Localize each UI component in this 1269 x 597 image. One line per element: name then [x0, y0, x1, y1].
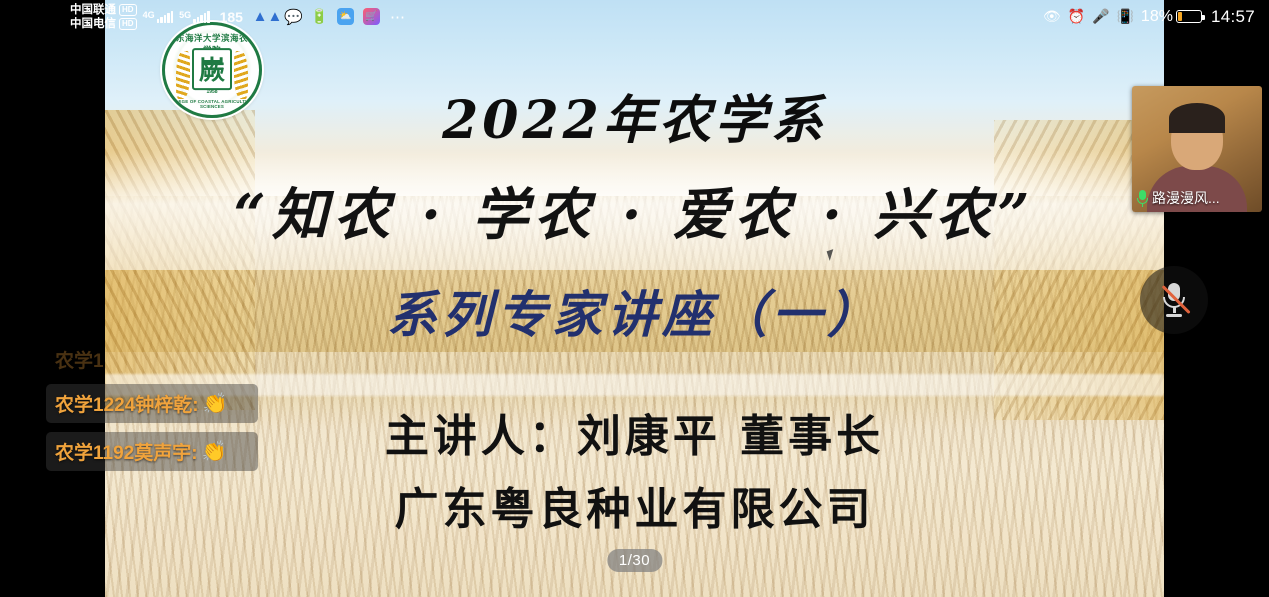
- chat-message-name-1: 农学1224钟梓乾:: [55, 390, 199, 417]
- chat-message-name-2: 农学1192莫声宇:: [55, 438, 198, 465]
- slide-company: 广东粤良种业有限公司: [105, 473, 1164, 537]
- battery-icon: [1176, 10, 1202, 23]
- microphone-on-icon: [1136, 190, 1149, 207]
- chat-message-1: 农学1224钟梓乾: 👏: [46, 384, 258, 423]
- participant-hair: [1169, 103, 1225, 133]
- presentation-slide[interactable]: 广东海洋大学滨海农业学院 嶡 1958 COLLEGE OF COASTAL A…: [105, 0, 1164, 597]
- participant-name-row: 路漫漫风...: [1136, 188, 1220, 208]
- slide-speaker: 主讲人：刘康平 董事长: [105, 400, 1164, 464]
- participant-name-label: 路漫漫风...: [1152, 188, 1220, 208]
- chat-message-2: 农学1192莫声宇: 👏: [46, 432, 258, 471]
- page-indicator: 1/30: [607, 549, 662, 572]
- chat-message-emoji-2: 👏: [202, 439, 227, 464]
- participant-video-tile[interactable]: 路漫漫风...: [1132, 86, 1262, 212]
- clock-label: 14:57: [1211, 7, 1255, 27]
- slide-motto: “知农 · 学农 · 爱农 · 兴农”: [105, 170, 1164, 251]
- slide-series-subtitle: 系列专家讲座（一）: [105, 275, 1164, 347]
- slide-title: 2022年农学系: [105, 78, 1164, 153]
- chat-message-0: 农学1: [46, 340, 258, 375]
- mute-microphone-button[interactable]: [1140, 266, 1208, 334]
- microphone-muted-icon: [1161, 283, 1187, 317]
- phone-screen: 广东海洋大学滨海农业学院 嶡 1958 COLLEGE OF COASTAL A…: [0, 0, 1269, 597]
- chat-message-name-0: 农学1: [55, 346, 104, 373]
- chat-overlay: 农学1 农学1224钟梓乾: 👏 农学1192莫声宇: 👏: [46, 340, 258, 471]
- chat-message-emoji-1: 👏: [203, 391, 228, 416]
- battery-fill: [1178, 12, 1182, 20]
- divider-strip: [105, 374, 1164, 396]
